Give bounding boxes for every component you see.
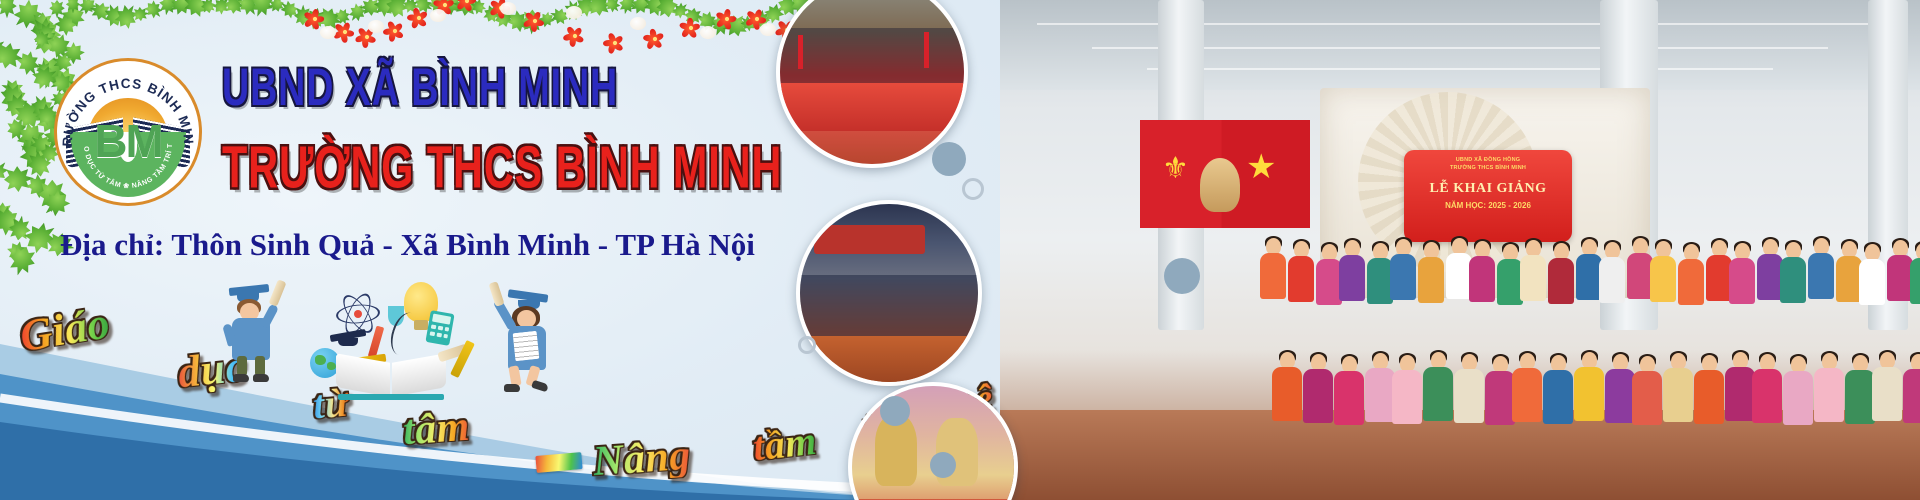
person-back-row	[1650, 241, 1676, 315]
photo-collage: ⚜ ★ UBND XÃ ĐỒNG HỒNG TRƯỜNG THCS BÌNH M…	[1000, 0, 1920, 500]
logo-monogram: BM	[57, 118, 199, 164]
person-front-row	[1485, 356, 1515, 436]
person-body	[1485, 371, 1515, 425]
school-logo: BM TRƯỜNG THCS BÌNH MINH GIÁO DỤC TỪ TÂM…	[54, 58, 202, 206]
person-body	[1903, 369, 1920, 423]
person-front-row	[1423, 352, 1453, 432]
person-back-row	[1520, 240, 1546, 314]
inset-students-flags	[796, 200, 982, 386]
decor-dot-4	[930, 452, 956, 478]
decor-dot-1	[932, 142, 966, 176]
person-back-row	[1780, 242, 1806, 316]
decor-ring-1	[962, 178, 984, 200]
person-front-row	[1365, 353, 1395, 433]
person-body	[1365, 368, 1395, 422]
person-back-row	[1729, 243, 1755, 317]
person-body	[1392, 370, 1422, 424]
person-body	[1694, 370, 1724, 424]
person-body	[1548, 258, 1574, 304]
person-body	[1910, 258, 1920, 304]
person-body	[1520, 255, 1546, 301]
person-body	[1780, 257, 1806, 303]
person-body	[1729, 258, 1755, 304]
person-body	[1678, 259, 1704, 305]
person-front-row	[1334, 356, 1364, 436]
person-front-row	[1694, 355, 1724, 435]
school-title: TRƯỜNG THCS BÌNH MINH	[222, 138, 748, 200]
slogan-word-6: Nâng	[592, 435, 692, 484]
person-back-row	[1288, 241, 1314, 315]
person-back-row	[1418, 242, 1444, 316]
inset-ceremony-stage	[776, 0, 968, 168]
slogan-word-7: tầm	[751, 421, 819, 467]
person-body	[1272, 367, 1302, 421]
person-front-row	[1814, 353, 1844, 433]
person-back-row	[1599, 242, 1625, 316]
person-body	[1423, 367, 1453, 421]
person-front-row	[1845, 355, 1875, 435]
open-book-clipart	[336, 354, 446, 400]
person-front-row	[1543, 355, 1573, 435]
person-body	[1418, 257, 1444, 303]
person-body	[1334, 371, 1364, 425]
diploma-scroll-icon	[268, 279, 286, 306]
person-body	[1783, 371, 1813, 425]
person-body	[1288, 256, 1314, 302]
person-body	[1543, 370, 1573, 424]
person-back-row	[1859, 244, 1885, 318]
person-back-row	[1260, 238, 1286, 312]
person-body	[1752, 369, 1782, 423]
decor-ring-2	[798, 336, 816, 354]
person-body	[1390, 254, 1416, 300]
person-body	[1859, 259, 1885, 305]
person-body	[1599, 257, 1625, 303]
person-body	[1303, 369, 1333, 423]
school-address: Địa chỉ: Thôn Sinh Quả - Xã Bình Minh - …	[60, 228, 860, 262]
person-body	[1725, 367, 1755, 421]
person-front-row	[1903, 354, 1920, 434]
graduate-girl-clipart	[488, 292, 568, 394]
org-title: UBND XÃ BÌNH MINH	[222, 60, 748, 115]
graduate-boy-clipart	[215, 284, 295, 384]
person-front-row	[1454, 354, 1484, 434]
person-body	[1632, 371, 1662, 425]
person-body	[1872, 367, 1902, 421]
person-front-row	[1632, 356, 1662, 436]
person-body	[1650, 256, 1676, 302]
person-body	[1814, 368, 1844, 422]
person-front-row	[1574, 352, 1604, 432]
group-photo-people	[1000, 0, 1920, 500]
person-front-row	[1303, 354, 1333, 434]
person-back-row	[1548, 243, 1574, 317]
person-body	[1454, 369, 1484, 423]
person-back-row	[1390, 239, 1416, 313]
person-front-row	[1605, 354, 1635, 434]
person-back-row	[1808, 238, 1834, 312]
person-body	[1605, 369, 1635, 423]
banner-headings: UBND XÃ BÌNH MINH TRƯỜNG THCS BÌNH MINH	[222, 60, 782, 184]
person-body	[1260, 253, 1286, 299]
inset-festival	[848, 382, 1018, 500]
person-body	[1808, 253, 1834, 299]
person-back-row	[1339, 240, 1365, 314]
person-body	[1339, 255, 1365, 301]
person-body	[1512, 368, 1542, 422]
person-front-row	[1512, 353, 1542, 433]
person-body	[1663, 368, 1693, 422]
slogan-word-1: Giáo	[17, 301, 113, 359]
person-body	[1469, 256, 1495, 302]
person-front-row	[1272, 352, 1302, 432]
person-back-row	[1678, 244, 1704, 318]
decor-dot-2	[1164, 258, 1200, 294]
person-front-row	[1872, 352, 1902, 432]
school-banner: BM TRƯỜNG THCS BÌNH MINH GIÁO DỤC TỪ TÂM…	[0, 0, 1920, 500]
person-body	[1574, 367, 1604, 421]
person-front-row	[1392, 355, 1422, 435]
person-back-row	[1910, 243, 1920, 317]
person-front-row	[1752, 354, 1782, 434]
person-front-row	[1663, 353, 1693, 433]
decor-dot-3	[880, 396, 910, 426]
person-back-row	[1469, 241, 1495, 315]
slogan-word-4: tâm	[402, 406, 472, 453]
person-front-row	[1725, 352, 1755, 432]
person-front-row	[1783, 356, 1813, 436]
person-body	[1845, 370, 1875, 424]
